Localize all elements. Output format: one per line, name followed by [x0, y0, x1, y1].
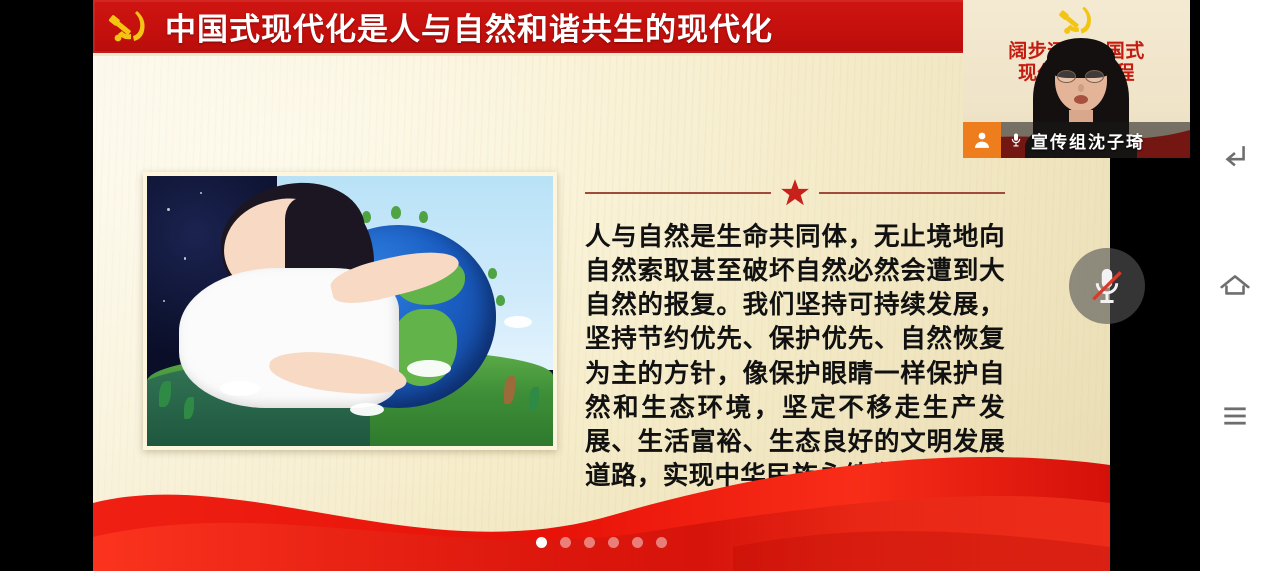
cloud	[350, 403, 384, 416]
nose	[1078, 84, 1084, 92]
tree	[488, 268, 497, 279]
avatar	[963, 122, 1001, 158]
slide-pagination[interactable]	[93, 537, 1110, 548]
pagination-dot-3[interactable]	[584, 537, 595, 548]
participant-name: 宣传组沈子琦	[1031, 128, 1145, 153]
android-navigation-bar	[1200, 0, 1269, 571]
slide-text-column: 人与自然是生命共同体，无止境地向自然索取甚至破坏自然必然会遭到大自然的报复。我们…	[585, 178, 1005, 493]
glasses-right-lens	[1085, 70, 1104, 83]
participant-name-bar[interactable]: 宣传组沈子琦	[963, 122, 1190, 158]
divider-line-right	[819, 192, 1005, 194]
mouth	[1074, 95, 1088, 104]
back-button[interactable]	[1200, 91, 1269, 221]
pagination-dot-5[interactable]	[632, 537, 643, 548]
pagination-dot-1[interactable]	[536, 537, 547, 548]
red-star-icon	[780, 178, 810, 207]
tree	[496, 295, 505, 306]
screen-root: 中国式现代化是人与自然和谐共生的现代化	[0, 0, 1269, 571]
slide-illustration	[143, 172, 557, 450]
star-speck	[200, 192, 202, 194]
person-icon	[972, 130, 992, 150]
back-arrow-icon	[1220, 141, 1250, 171]
tree	[391, 206, 401, 219]
mic-status-icon-wrap	[1001, 131, 1031, 149]
pagination-dot-2[interactable]	[560, 537, 571, 548]
glasses-left-lens	[1057, 70, 1076, 83]
cloud	[407, 360, 451, 377]
microphone-muted-icon	[1086, 265, 1128, 307]
microphone-icon	[1008, 131, 1024, 149]
pagination-dot-6[interactable]	[656, 537, 667, 548]
recents-button[interactable]	[1200, 351, 1269, 481]
star-divider	[585, 178, 1005, 207]
divider-line-left	[585, 192, 771, 194]
video-participant-tile[interactable]: 阔步迈向中国式 现代化的征程 党的二十大报告学习宣讲 宣讲人：宣传组	[963, 0, 1190, 158]
home-button[interactable]	[1200, 221, 1269, 351]
mic-mute-floating-button[interactable]	[1069, 248, 1145, 324]
red-silk-wave	[93, 451, 1110, 571]
menu-lines-icon	[1220, 404, 1250, 428]
star-speck	[184, 257, 187, 260]
page-title: 中国式现代化是人与自然和谐共生的现代化	[165, 4, 773, 49]
plant	[529, 387, 539, 411]
pagination-dot-4[interactable]	[608, 537, 619, 548]
presentation-slide[interactable]: 中国式现代化是人与自然和谐共生的现代化	[93, 0, 1110, 571]
slide-title-bar: 中国式现代化是人与自然和谐共生的现代化	[93, 0, 1110, 56]
tree	[419, 211, 428, 223]
home-icon	[1219, 271, 1251, 301]
hammer-sickle-icon	[107, 8, 151, 46]
hair-top	[1047, 38, 1115, 78]
